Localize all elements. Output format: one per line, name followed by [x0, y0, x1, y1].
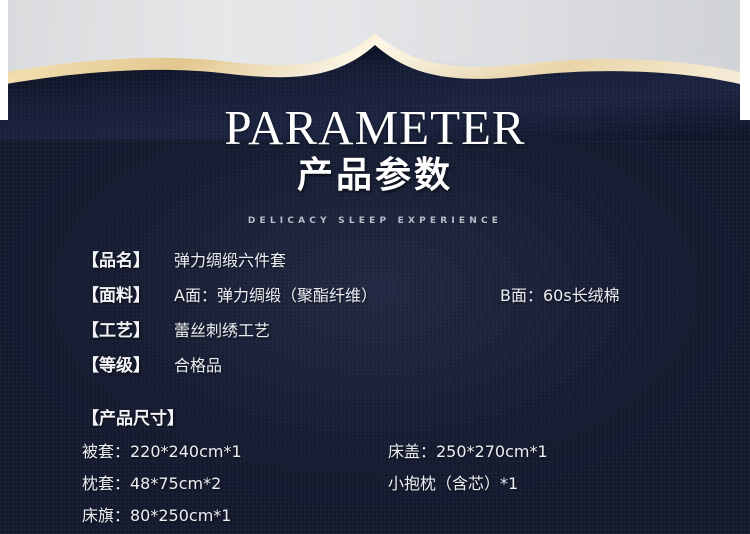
spec-label: 【面料】 [82, 281, 150, 306]
page-title-cn: 产品参数 [0, 158, 750, 194]
spec-row: 【品名】 弹力绸缎六件套 [0, 246, 750, 281]
product-parameter-page: PARAMETER 产品参数 DELICACY SLEEP EXPERIENCE… [0, 0, 750, 534]
spec-label: 【工艺】 [82, 316, 150, 341]
size-row: 枕套：48*75cm*2 小抱枕（含芯）*1 [0, 470, 750, 500]
right-white-strip [740, 0, 750, 120]
spec-row: 【工艺】 蕾丝刺绣工艺 [0, 316, 750, 351]
size-row: 床旗：80*250cm*1 [0, 502, 750, 532]
product-sizes-heading: 【产品尺寸】 [82, 404, 184, 429]
size-left: 床旗：80*250cm*1 [82, 502, 231, 526]
spec-value: 合格品 [174, 352, 222, 376]
page-title-en: PARAMETER [0, 103, 750, 152]
size-left: 被套：220*240cm*1 [82, 438, 242, 462]
spec-list: 【品名】 弹力绸缎六件套 【面料】 A面：弹力绸缎（聚酯纤维） B面：60s长绒… [0, 246, 750, 386]
spec-value-b: B面：60s长绒棉 [500, 282, 620, 306]
spec-value: 蕾丝刺绣工艺 [174, 317, 270, 341]
page-tagline: DELICACY SLEEP EXPERIENCE [0, 216, 750, 226]
spec-row: 【等级】 合格品 [0, 351, 750, 386]
spec-row: 【面料】 A面：弹力绸缎（聚酯纤维） B面：60s长绒棉 [0, 281, 750, 316]
spec-label: 【品名】 [82, 246, 150, 271]
spec-label: 【等级】 [82, 351, 150, 376]
spec-value: 弹力绸缎六件套 [174, 247, 286, 271]
size-right: 床盖：250*270cm*1 [388, 438, 548, 462]
size-right: 小抱枕（含芯）*1 [388, 470, 518, 494]
left-white-strip [0, 0, 8, 120]
size-row: 被套：220*240cm*1 床盖：250*270cm*1 [0, 438, 750, 468]
spec-value: A面：弹力绸缎（聚酯纤维） [174, 282, 377, 306]
size-left: 枕套：48*75cm*2 [82, 470, 221, 494]
